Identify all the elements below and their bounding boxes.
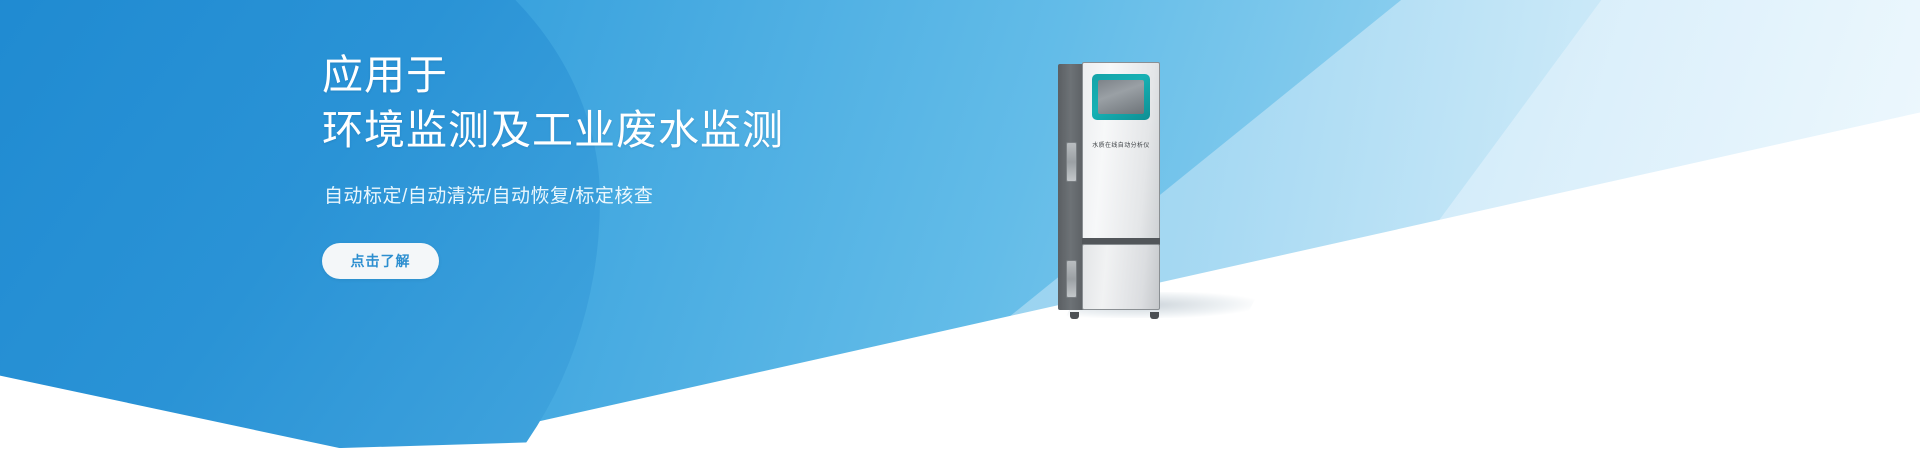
product-foot-right	[1150, 312, 1159, 319]
product-screen-bezel	[1092, 74, 1150, 120]
product-label-text: 水质在线自动分析仪	[1084, 140, 1158, 149]
learn-more-button[interactable]: 点击了解	[322, 243, 439, 279]
product-image-analyzer: 水质在线自动分析仪	[1058, 62, 1188, 314]
product-lower-cabinet	[1082, 244, 1160, 310]
hero-banner: 应用于 环境监测及工业废水监测 自动标定/自动清洗/自动恢复/标定核查 点击了解…	[0, 0, 1920, 450]
product-handle-lower-icon	[1066, 260, 1077, 298]
hero-content: 应用于 环境监测及工业废水监测 自动标定/自动清洗/自动恢复/标定核查 点击了解	[322, 48, 962, 279]
page-title: 应用于 环境监测及工业废水监测	[322, 48, 962, 158]
product-display-screen	[1098, 80, 1144, 114]
headline-line-1: 应用于	[322, 48, 962, 103]
product-handle-upper-icon	[1066, 142, 1077, 182]
hero-subtitle: 自动标定/自动清洗/自动恢复/标定核查	[324, 184, 962, 210]
headline-line-2: 环境监测及工业废水监测	[322, 103, 962, 158]
product-foot-left	[1070, 312, 1079, 319]
